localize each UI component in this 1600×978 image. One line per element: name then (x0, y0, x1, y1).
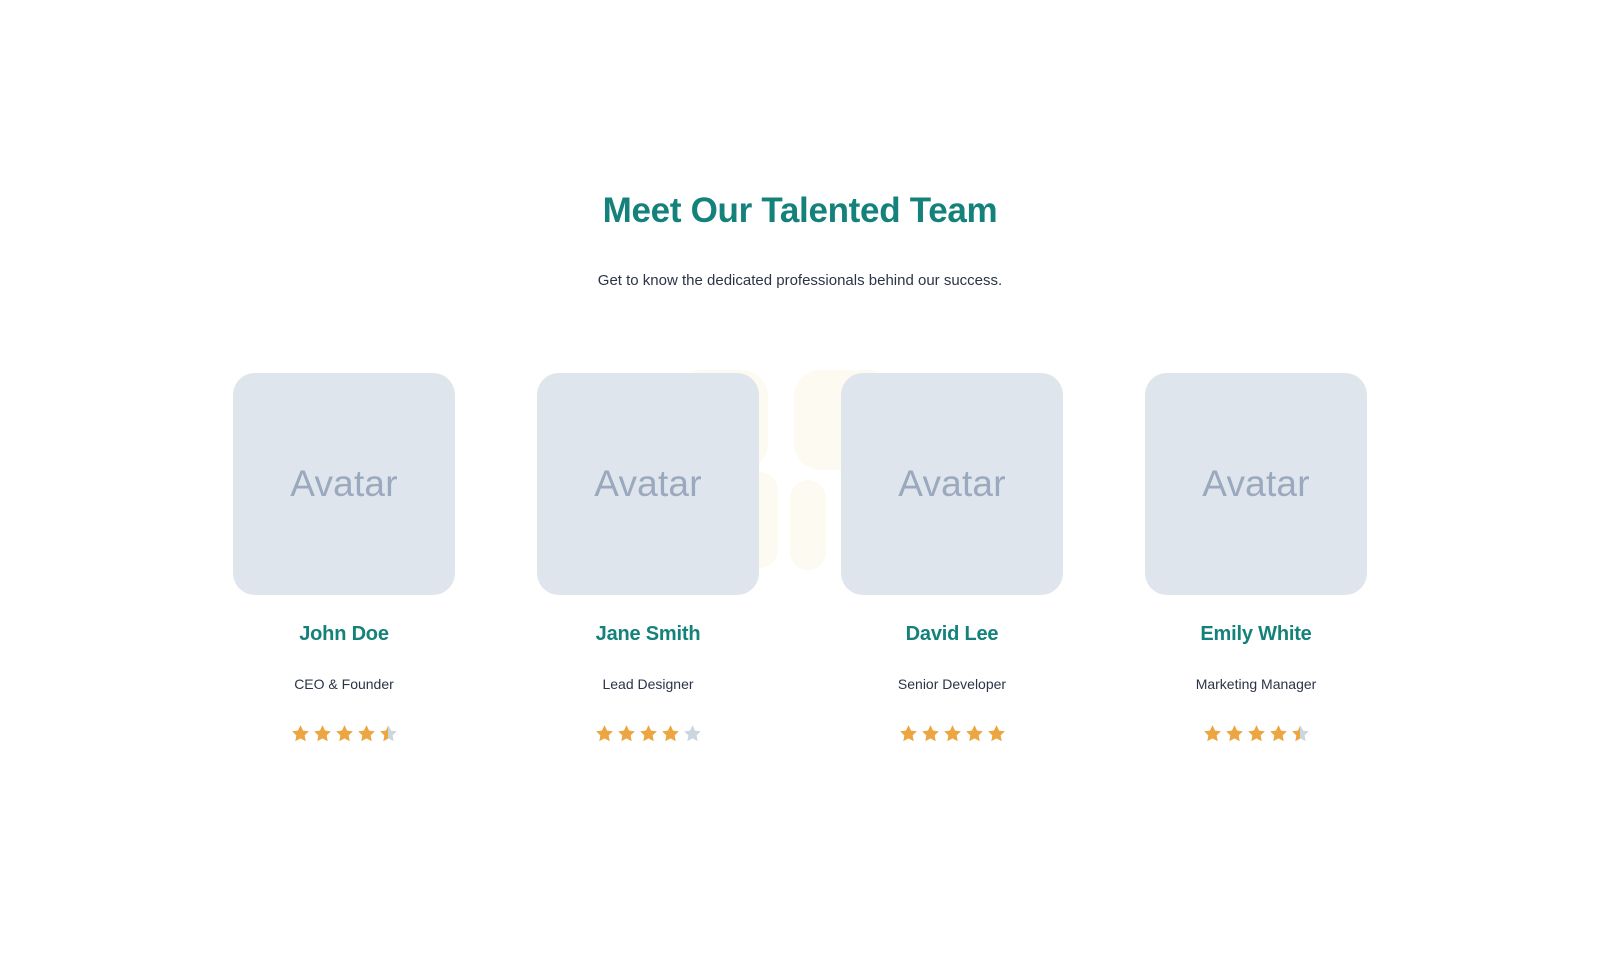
star-icon (987, 724, 1006, 743)
avatar: Avatar (1145, 373, 1367, 595)
member-name: John Doe (299, 595, 389, 646)
star-icon (1225, 724, 1244, 743)
team-member-card[interactable]: AvatarJane SmithLead Designer (537, 373, 759, 743)
avatar-placeholder-label: Avatar (898, 463, 1005, 505)
avatar: Avatar (841, 373, 1063, 595)
star-icon (617, 724, 636, 743)
member-role: Senior Developer (898, 646, 1006, 692)
star-icon (683, 724, 702, 743)
star-icon (943, 724, 962, 743)
avatar: Avatar (233, 373, 455, 595)
page-title: Meet Our Talented Team (0, 190, 1600, 232)
team-member-grid: AvatarJohn DoeCEO & FounderAvatarJane Sm… (0, 291, 1600, 743)
avatar-placeholder-label: Avatar (594, 463, 701, 505)
star-icon (965, 724, 984, 743)
rating-stars (899, 692, 1006, 743)
member-name: Emily White (1200, 595, 1311, 646)
rating-stars (291, 692, 398, 743)
rating-stars (1203, 692, 1310, 743)
star-icon (313, 724, 332, 743)
star-icon (1269, 724, 1288, 743)
star-icon (639, 724, 658, 743)
page-subtitle: Get to know the dedicated professionals … (0, 232, 1600, 291)
avatar: Avatar (537, 373, 759, 595)
star-icon (291, 724, 310, 743)
rating-stars (595, 692, 702, 743)
star-icon (379, 724, 398, 743)
star-icon (335, 724, 354, 743)
member-name: David Lee (906, 595, 999, 646)
avatar-placeholder-label: Avatar (1202, 463, 1309, 505)
member-role: Marketing Manager (1196, 646, 1317, 692)
star-icon (899, 724, 918, 743)
star-icon (1203, 724, 1222, 743)
avatar-placeholder-label: Avatar (290, 463, 397, 505)
star-icon (661, 724, 680, 743)
team-member-card[interactable]: AvatarEmily WhiteMarketing Manager (1145, 373, 1367, 743)
member-name: Jane Smith (596, 595, 701, 646)
star-icon (1291, 724, 1310, 743)
team-member-card[interactable]: AvatarJohn DoeCEO & Founder (233, 373, 455, 743)
star-icon (595, 724, 614, 743)
member-role: Lead Designer (602, 646, 693, 692)
star-icon (921, 724, 940, 743)
star-icon (1247, 724, 1266, 743)
star-icon (357, 724, 376, 743)
team-member-card[interactable]: AvatarDavid LeeSenior Developer (841, 373, 1063, 743)
member-role: CEO & Founder (294, 646, 394, 692)
team-section-header: Meet Our Talented Team Get to know the d… (0, 0, 1600, 291)
